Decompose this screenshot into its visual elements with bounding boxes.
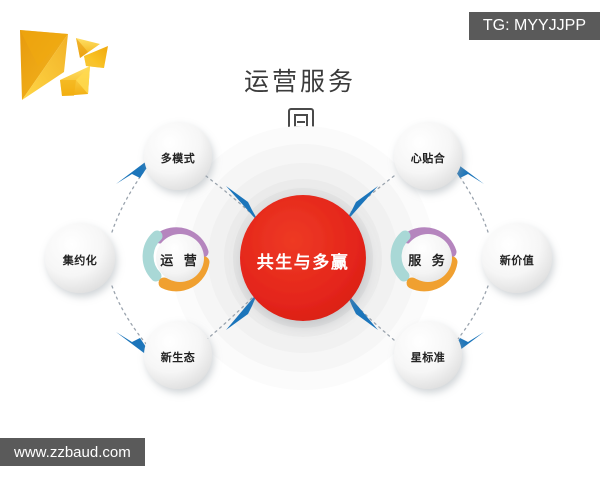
node-circle-duomoshi[interactable] [144, 122, 212, 190]
pillar-label-service: 服 务 [378, 250, 478, 269]
pillar-label-operations: 运 营 [130, 250, 230, 269]
node-circle-xingbiaozhun[interactable] [394, 321, 462, 389]
node-circle-xinjiazhi[interactable] [482, 223, 552, 293]
website-watermark: www.zzbaud.com [0, 438, 145, 466]
node-circle-xinshengtai[interactable] [144, 321, 212, 389]
slide-canvas: 运营服务 深商企业公馆 企业配套服务系统 [0, 0, 600, 480]
node-circle-jiyuehua[interactable] [45, 223, 115, 293]
core-label: 共生与多赢 [203, 248, 403, 273]
telegram-watermark: TG: MYYJJPP [469, 12, 600, 40]
node-circle-xintiehe[interactable] [394, 122, 462, 190]
hub-and-spoke-diagram [0, 0, 600, 480]
